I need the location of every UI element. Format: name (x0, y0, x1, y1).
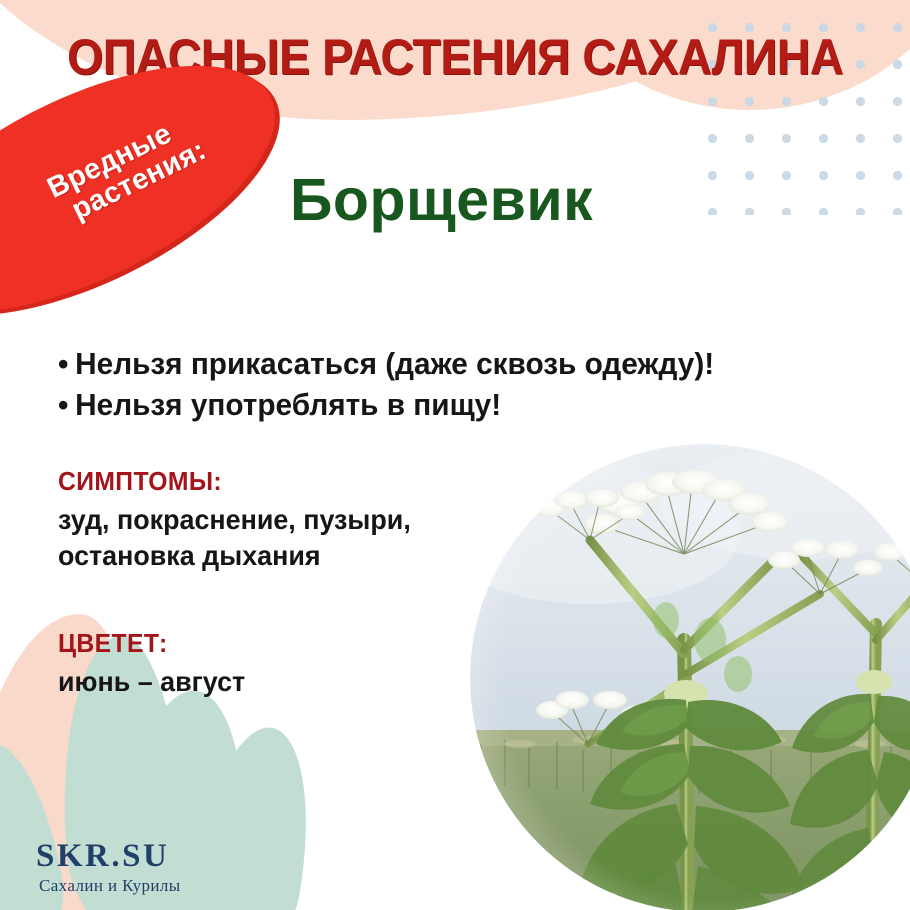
bullet-icon: • (58, 387, 68, 422)
plant-name: Борщевик (290, 166, 593, 234)
warning-list: •Нельзя прикасаться (даже сквозь одежду)… (58, 344, 714, 426)
bullet-icon: • (58, 346, 68, 381)
warning-item-2: •Нельзя употреблять в пищу! (58, 385, 714, 426)
logo-tagline: Сахалин и Курилы (36, 876, 181, 896)
blooming-section: ЦВЕТЕТ: июнь – август (58, 628, 253, 700)
hogweed-photo (470, 444, 910, 910)
infographic-poster: ОПАСНЫЕ РАСТЕНИЯ САХАЛИНА Вредные растен… (0, 0, 910, 910)
blooming-heading: ЦВЕТЕТ: (58, 628, 243, 659)
warning-item-2-text: Нельзя употреблять в пищу! (75, 387, 501, 422)
badge-text: Вредные растения: (0, 104, 211, 274)
symptoms-body: зуд, покраснение, пузыри, остановка дыха… (58, 502, 411, 575)
skr-su-logo[interactable]: SKR.SU Сахалин и Курилы (36, 838, 181, 896)
warning-item-1: •Нельзя прикасаться (даже сквозь одежду)… (58, 344, 714, 385)
symptoms-section: СИМПТОМЫ: зуд, покраснение, пузыри, оста… (58, 466, 426, 575)
hogweed-illustration (470, 444, 910, 910)
symptoms-heading: СИМПТОМЫ: (58, 466, 407, 497)
logo-name: SKR.SU (36, 838, 181, 875)
blooming-body: июнь – август (58, 664, 245, 700)
warning-item-1-text: Нельзя прикасаться (даже сквозь одежду)! (75, 346, 714, 381)
mint-leaf-shape-4 (177, 718, 327, 910)
